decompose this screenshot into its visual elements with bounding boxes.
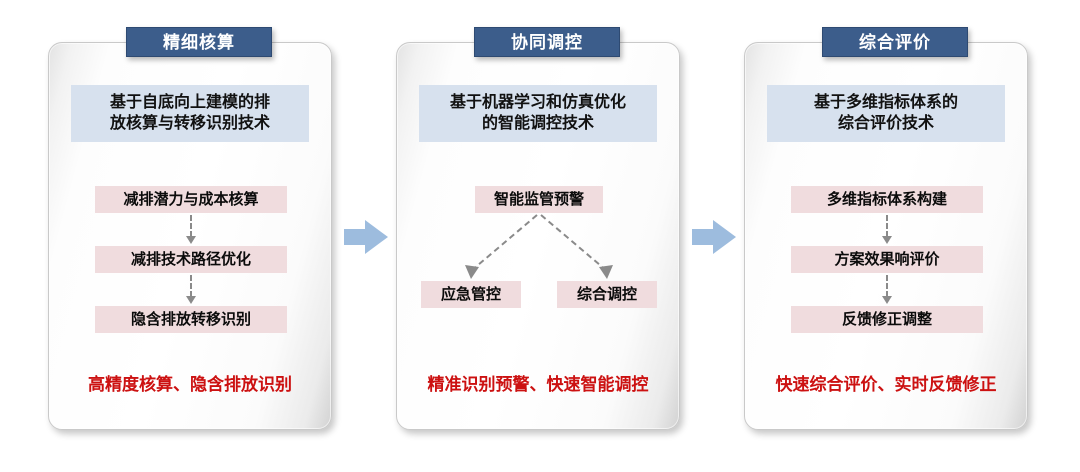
panel-2-branch-1: 应急管控	[421, 281, 521, 308]
flow-arrow-right-icon-1	[344, 220, 388, 254]
panel-coordinated-regulation: 基于机器学习和仿真优化 的智能调控技术 智能监管预警 应急管控 综合调控 精准识…	[396, 42, 680, 430]
panel-3-step-2: 方案效果响评价	[791, 246, 983, 273]
tab-fine-accounting[interactable]: 精细核算	[126, 27, 272, 57]
panel-2-step-1: 智能监管预警	[475, 186, 603, 213]
panel-3-arrow-1	[881, 215, 893, 245]
tab-comprehensive-evaluation[interactable]: 综合评价	[822, 27, 968, 57]
panel-1-summary: 高精度核算、隐含排放识别	[57, 370, 323, 395]
panel-1-step-2: 减排技术路径优化	[95, 246, 287, 273]
panel-2-subtitle-line-2: 的智能调控技术	[423, 113, 653, 134]
panel-fine-accounting: 基于自底向上建模的排 放核算与转移识别技术 减排潜力与成本核算 减排技术路径优化…	[48, 42, 332, 430]
panel-3-summary: 快速综合评价、实时反馈修正	[753, 370, 1019, 395]
panel-1-arrow-2	[185, 275, 197, 305]
panel-1-arrow-1	[185, 215, 197, 245]
panel-3-subtitle-line-1: 基于多维指标体系的	[771, 92, 1001, 113]
flow-arrow-right-icon-2	[692, 220, 736, 254]
panel-1-step-1: 减排潜力与成本核算	[95, 186, 287, 213]
panel-1-step-3: 隐含排放转移识别	[95, 306, 287, 333]
panel-1-subtitle: 基于自底向上建模的排 放核算与转移识别技术	[71, 85, 309, 142]
panel-comprehensive-evaluation: 基于多维指标体系的 综合评价技术 多维指标体系构建 方案效果响评价 反馈修正调整…	[744, 42, 1028, 430]
panel-3-step-3: 反馈修正调整	[791, 306, 983, 333]
tab-coordinated-regulation[interactable]: 协同调控	[474, 27, 620, 57]
panel-3-arrow-2	[881, 275, 893, 305]
panel-2-branch-2: 综合调控	[557, 281, 657, 308]
diagram-canvas: 基于自底向上建模的排 放核算与转移识别技术 减排潜力与成本核算 减排技术路径优化…	[0, 0, 1080, 472]
panel-2-summary: 精准识别预警、快速智能调控	[405, 370, 671, 395]
panel-1-subtitle-line-1: 基于自底向上建模的排	[75, 92, 305, 113]
panel-2-subtitle: 基于机器学习和仿真优化 的智能调控技术	[419, 85, 657, 142]
panel-1-subtitle-line-2: 放核算与转移识别技术	[75, 113, 305, 134]
panel-3-subtitle-line-2: 综合评价技术	[771, 113, 1001, 134]
panel-3-step-1: 多维指标体系构建	[791, 186, 983, 213]
panel-2-subtitle-line-1: 基于机器学习和仿真优化	[423, 92, 653, 113]
panel-3-subtitle: 基于多维指标体系的 综合评价技术	[767, 85, 1005, 142]
